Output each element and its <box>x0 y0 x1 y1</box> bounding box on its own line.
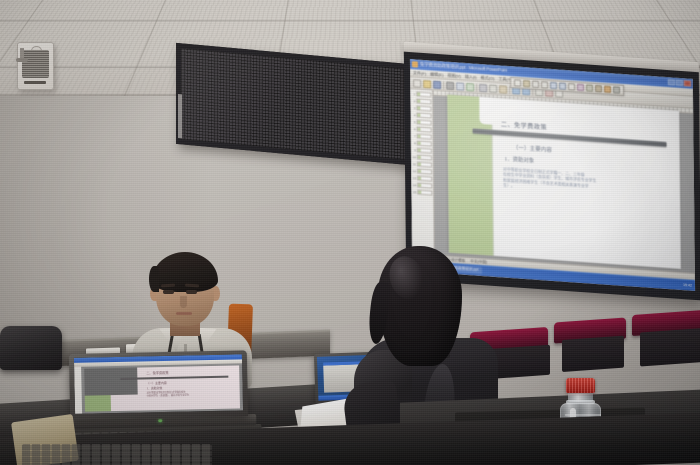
slide-thumb: 12 <box>412 168 432 174</box>
paste-icon[interactable] <box>499 85 507 94</box>
menu-file[interactable]: 文件(F) <box>413 70 426 77</box>
font-color-icon[interactable] <box>604 86 611 93</box>
slide-number: 3 <box>411 106 415 110</box>
speaker-bracket-arm <box>16 58 28 62</box>
slide-number: 7 <box>412 134 416 138</box>
slide-number: 13 <box>412 176 416 180</box>
slide-thumb-image[interactable] <box>416 91 431 97</box>
maximize-button[interactable] <box>676 80 683 86</box>
copy-icon[interactable] <box>489 84 497 93</box>
slide-number: 14 <box>412 183 416 187</box>
textbox-icon[interactable] <box>568 83 575 90</box>
slide-thumb: 5 <box>412 119 432 125</box>
minimize-button[interactable] <box>668 79 675 85</box>
autoshapes-icon[interactable] <box>523 80 530 87</box>
slide-thumb-image[interactable] <box>417 133 432 139</box>
bottle-cap[interactable] <box>566 378 595 393</box>
save-icon[interactable] <box>433 80 441 89</box>
laptop-slide-body: 对中等职业学校全日制正式学籍在校生 中农村学生（含县镇）、城市涉农专业学生 <box>147 391 234 399</box>
slide-number: 15 <box>412 190 416 194</box>
slide-number: 1 <box>411 92 415 96</box>
slide-thumb-image[interactable] <box>417 126 432 132</box>
slide-thumb: 1 <box>411 91 431 97</box>
slide-thumb-image[interactable] <box>417 169 432 175</box>
rectangle-icon[interactable] <box>550 82 557 89</box>
laptop-current-slide: 二、免学费政策 （一）主要内容 1．资助对象 对中等职业学校全日制正式学籍在校生… <box>84 365 240 411</box>
window-controls <box>668 79 691 87</box>
shadow-icon[interactable] <box>613 86 620 93</box>
slide-thumb-image[interactable] <box>417 119 432 125</box>
wordart-icon[interactable] <box>577 84 584 91</box>
slide-thumb-image[interactable] <box>417 148 432 154</box>
slide-thumb: 8 <box>412 140 432 146</box>
slide-number: 9 <box>412 148 416 152</box>
cut-icon[interactable] <box>479 83 487 92</box>
slide-thumb-image[interactable] <box>417 190 432 196</box>
slide-thumb: 3 <box>411 105 431 111</box>
slide-thumb: 10 <box>412 154 432 160</box>
slide-thumb-image[interactable] <box>417 162 432 168</box>
slide-thumb-image[interactable] <box>416 98 431 104</box>
laptop-slide-heading-2: 1．资助对象 <box>147 385 234 391</box>
open-icon[interactable] <box>423 79 431 88</box>
chair-office-left <box>0 326 62 370</box>
slide-number: 10 <box>412 155 416 159</box>
slide-number: 4 <box>411 113 415 117</box>
power-led-icon <box>158 419 162 422</box>
slide-thumb-image[interactable] <box>417 140 432 146</box>
print-icon[interactable] <box>446 81 454 90</box>
fill-color-icon[interactable] <box>586 84 593 91</box>
arrow-icon[interactable] <box>541 81 548 88</box>
powerpoint-icon <box>412 61 418 67</box>
slide-number: 2 <box>411 99 415 103</box>
system-clock: 15:42 <box>683 283 692 288</box>
laptop-powerpoint-mirror: 二、免学费政策 （一）主要内容 1．资助对象 对中等职业学校全日制正式学籍在校生… <box>74 354 243 414</box>
slide-thumb: 9 <box>412 147 432 153</box>
preview-icon[interactable] <box>456 82 464 91</box>
slide-thumb-image[interactable] <box>417 176 432 182</box>
slide-number: 5 <box>412 120 416 124</box>
line-icon[interactable] <box>532 81 539 88</box>
slide-thumb-image[interactable] <box>417 183 432 189</box>
laptop-left-lid: 二、免学费政策 （一）主要内容 1．资助对象 对中等职业学校全日制正式学籍在校生… <box>69 350 248 420</box>
menu-format[interactable]: 格式(O) <box>481 74 495 81</box>
menu-insert[interactable]: 插入(I) <box>465 73 477 80</box>
slide-thumb-image[interactable] <box>416 112 431 118</box>
slide-thumbnail-pane[interactable]: 1 2 3 4 5 6 7 8 9 10 11 12 13 <box>410 89 435 255</box>
slide-number: 12 <box>412 169 416 173</box>
slide-thumb: 15 <box>412 189 432 195</box>
menu-view[interactable]: 视图(V) <box>447 72 460 79</box>
drawing-select-icon[interactable] <box>514 79 521 86</box>
laptop-body-line: 中农村学生（含县镇）、城市涉农专业学生 <box>147 394 234 399</box>
slide-thumb: 13 <box>412 175 432 181</box>
slide-thumb: 4 <box>411 112 431 118</box>
line-color-icon[interactable] <box>595 85 602 92</box>
current-slide[interactable]: 二、免学费政策 （一）主要内容 1．资助对象 对中等职业学校全日制正式学籍一、二… <box>447 95 681 269</box>
slide-thumb: 2 <box>411 98 431 104</box>
slide-body-text: 对中等职业学校全日制正式学籍一、二、三年级 在校生中学业资料（含扶贫）学生、城市… <box>503 167 669 201</box>
new-icon[interactable] <box>413 79 421 88</box>
slide-thumb: 7 <box>412 133 432 139</box>
slide-thumb: 6 <box>412 126 432 132</box>
oval-icon[interactable] <box>559 82 566 89</box>
classroom-scene: 免学费资助政策培训.ppt - Microsoft PowerPoint 文件(… <box>0 0 700 465</box>
slide-number: 11 <box>412 162 416 166</box>
spellcheck-icon[interactable] <box>466 82 474 91</box>
menu-edit[interactable]: 编辑(E) <box>430 71 443 78</box>
slide-thumb-image[interactable] <box>417 155 432 161</box>
slide-thumb-image[interactable] <box>416 105 431 111</box>
laptop-left-screen[interactable]: 二、免学费政策 （一）主要内容 1．资助对象 对中等职业学校全日制正式学籍在校生… <box>74 354 243 414</box>
slide-thumb: 11 <box>412 161 432 167</box>
close-button[interactable] <box>684 80 691 86</box>
slide-content: 二、免学费政策 （一）主要内容 1．资助对象 对中等职业学校全日制正式学籍一、二… <box>501 119 669 262</box>
slide-thumb: 14 <box>412 182 432 188</box>
slide-number: 8 <box>412 141 416 145</box>
slide-number: 6 <box>412 127 416 131</box>
desktop-keyboard[interactable] <box>22 444 212 465</box>
